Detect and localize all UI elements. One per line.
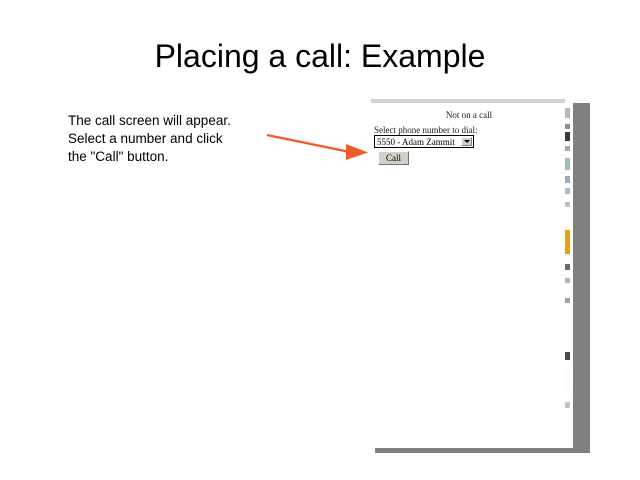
side-strip-segment xyxy=(565,176,570,183)
phone-number-select-value: 5550 - Adam Zammit xyxy=(377,137,455,147)
side-strip-segment xyxy=(565,158,570,170)
call-status-text: Not on a call xyxy=(372,110,566,120)
dial-number-label: Select phone number to dial: xyxy=(374,125,477,135)
side-strip-segment xyxy=(565,230,570,254)
side-strip-segment xyxy=(565,402,570,408)
page-title: Placing a call: Example xyxy=(0,38,640,75)
side-strip-segment xyxy=(565,264,570,270)
side-strip-segment xyxy=(565,188,570,194)
call-screen-capture: Not on a call Select phone number to dia… xyxy=(371,98,573,448)
callout-arrow xyxy=(262,124,374,164)
side-strip-segment xyxy=(565,108,570,118)
captured-window-client-area: Not on a call Select phone number to dia… xyxy=(371,103,565,448)
side-strip-segment xyxy=(565,146,570,151)
side-strip-segment xyxy=(565,124,570,129)
callout-arrow-icon xyxy=(262,124,374,164)
screenshot-shadow-right xyxy=(573,103,590,453)
side-strip-segment xyxy=(565,298,570,303)
captured-window: Not on a call Select phone number to dia… xyxy=(371,98,573,448)
side-strip-segment xyxy=(565,278,570,283)
phone-number-select[interactable]: 5550 - Adam Zammit xyxy=(374,135,474,148)
chevron-down-icon[interactable] xyxy=(461,137,472,146)
side-strip-segment xyxy=(565,132,570,141)
captured-window-side-strip[interactable] xyxy=(565,102,573,448)
call-button[interactable]: Call xyxy=(378,151,409,165)
side-strip-segment xyxy=(565,370,570,388)
side-strip-segment xyxy=(565,352,570,360)
side-strip-segment xyxy=(565,202,570,207)
